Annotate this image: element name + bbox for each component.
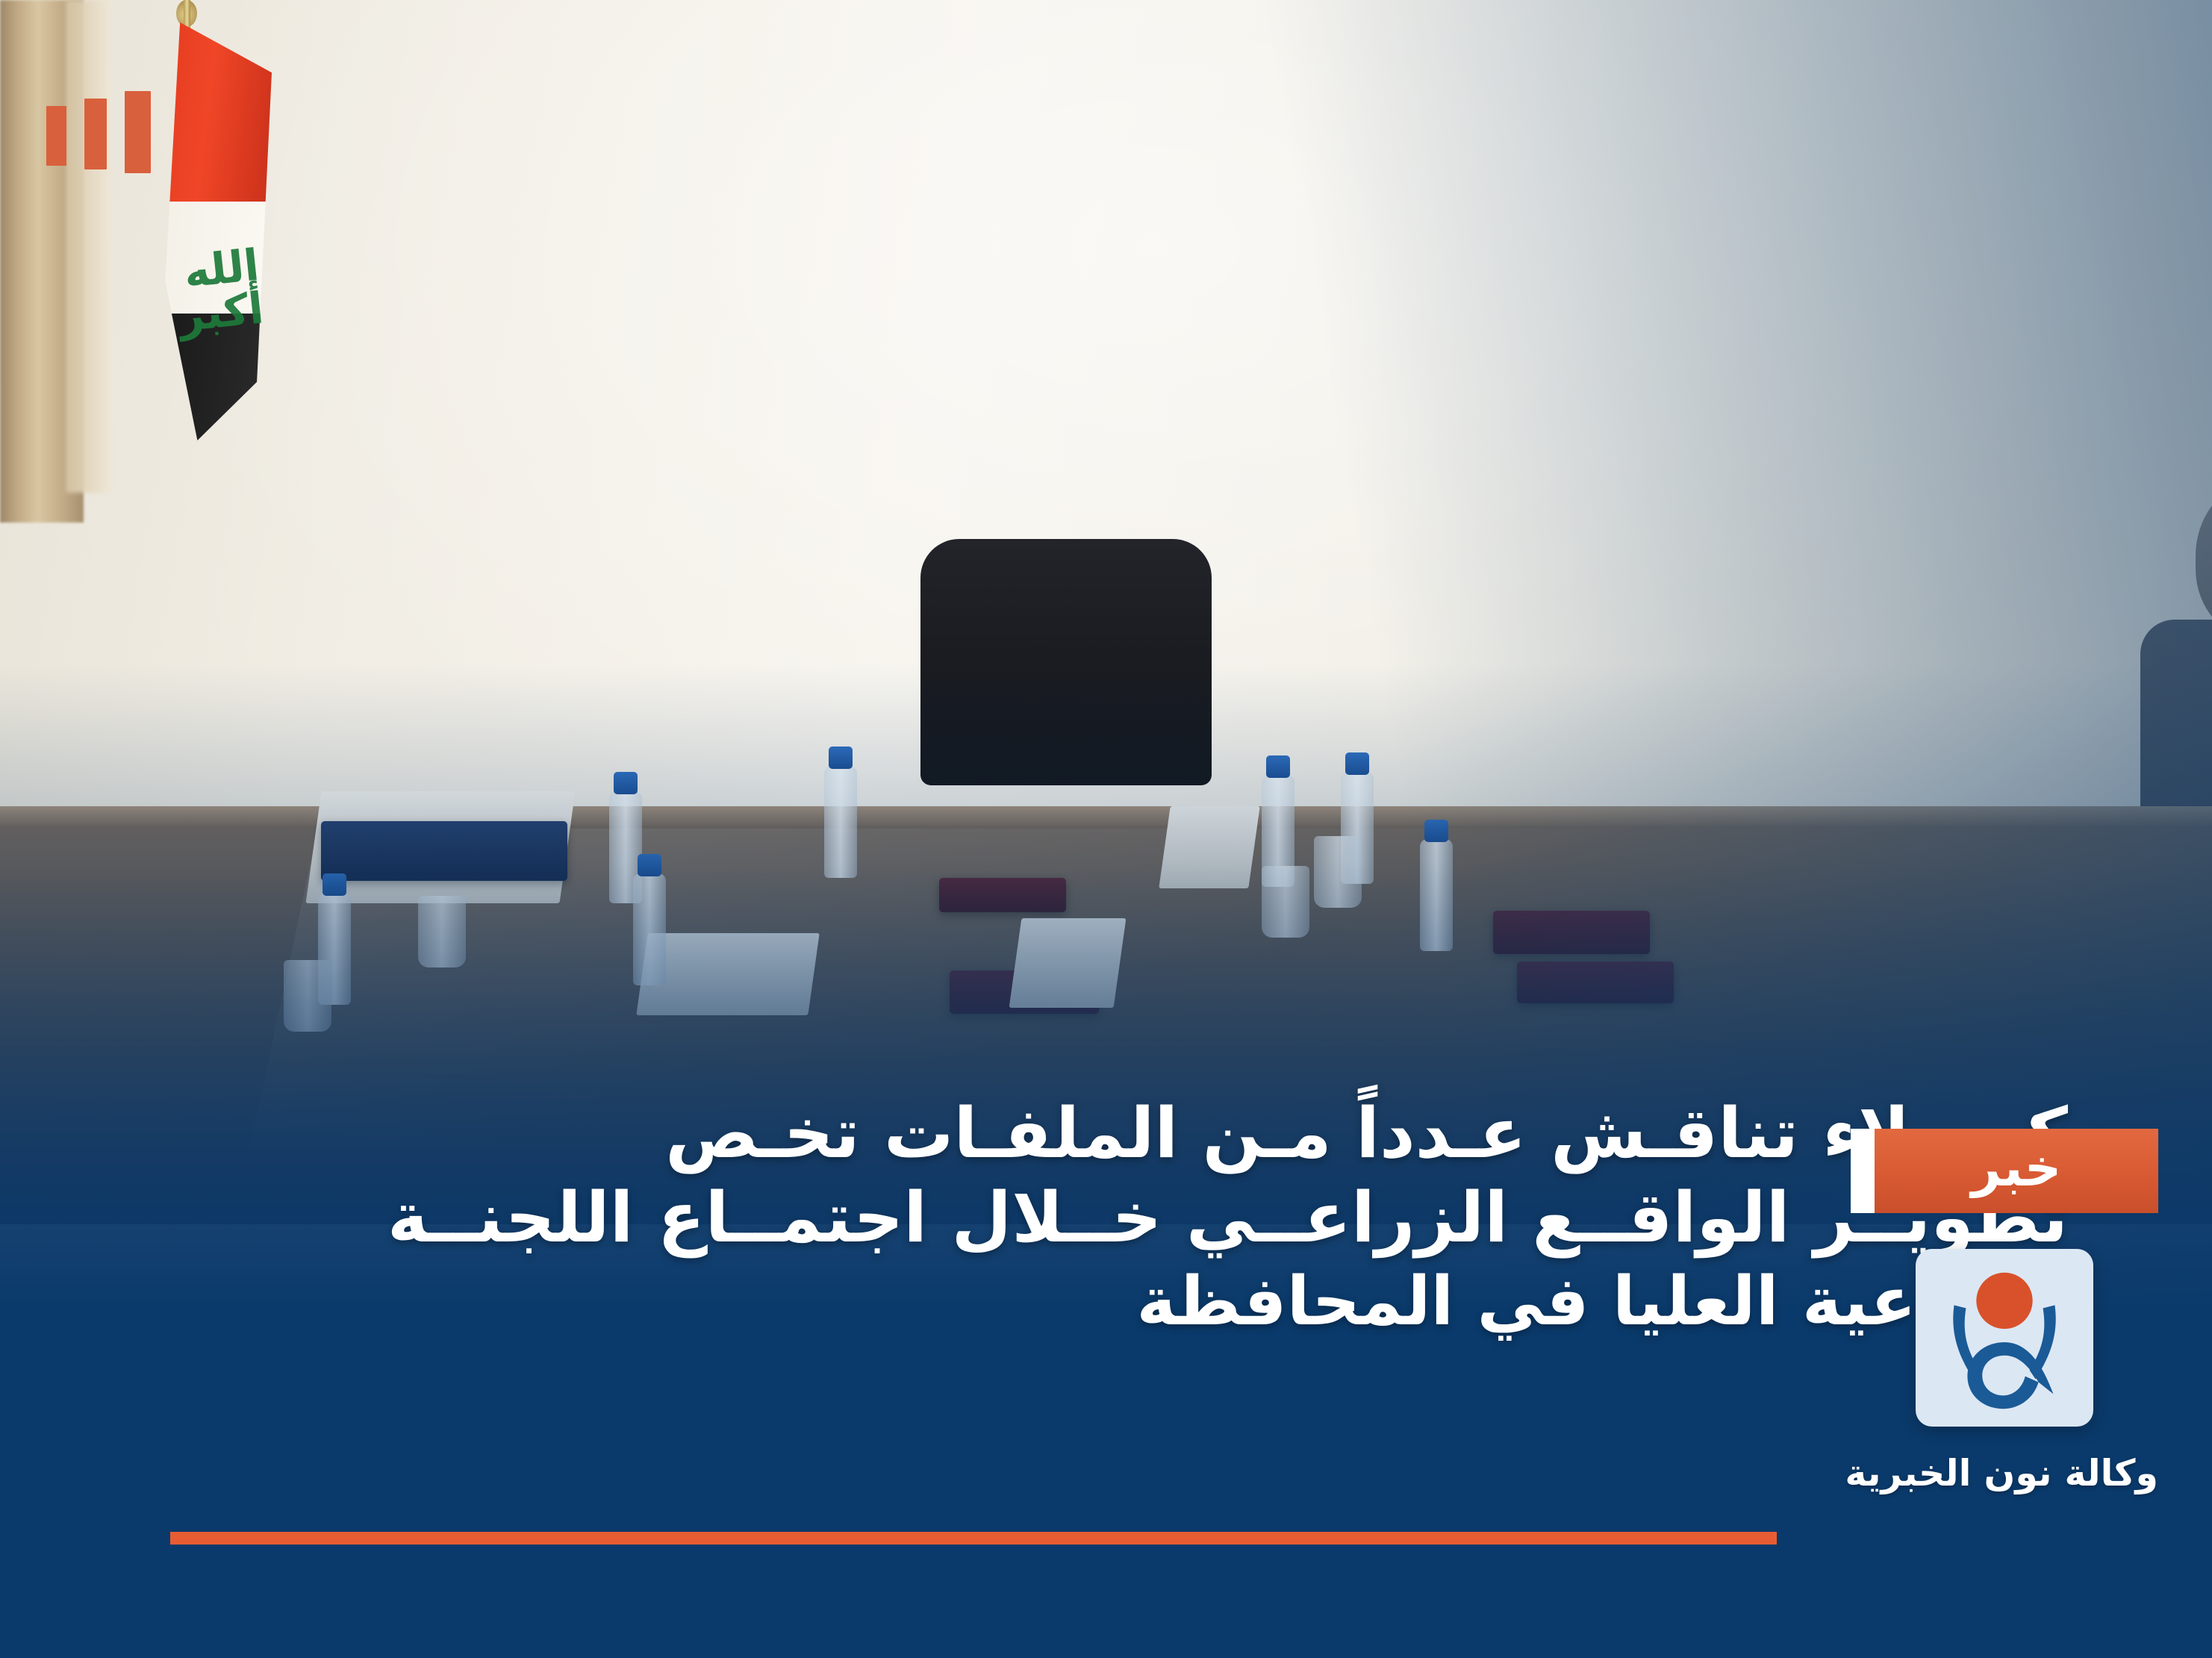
tick-mark-3 <box>46 106 66 166</box>
news-card: ‎الله أكبر <box>0 0 2212 1658</box>
news-badge-stub <box>1851 1129 1875 1213</box>
headline-line-3: الزراعية العليا في المحافظة <box>362 1261 2068 1343</box>
news-badge-label: خبر <box>1875 1129 2158 1213</box>
agency-logo <box>1916 1249 2093 1427</box>
noon-logo-mark <box>1916 1249 2093 1427</box>
headline: كربــلاء تناقـش عـدداً مـن الملفـات تخـص… <box>362 1091 2068 1343</box>
headline-line-1: كربــلاء تناقـش عـدداً مـن الملفـات تخـص <box>362 1091 2068 1176</box>
brand-block: خبر وكالة نون الخبرية <box>1851 1129 2158 1495</box>
agency-name: وكالة نون الخبرية <box>1851 1452 2158 1495</box>
tick-mark-2 <box>84 99 107 169</box>
tick-mark-1 <box>125 91 151 173</box>
headline-line-2: تطويــر الواقــع الزراعــي خــلال اجتمــ… <box>362 1176 2068 1260</box>
orange-divider-rule <box>170 1532 1777 1545</box>
news-badge: خبر <box>1851 1129 2158 1213</box>
orange-tick-marks <box>46 91 151 173</box>
